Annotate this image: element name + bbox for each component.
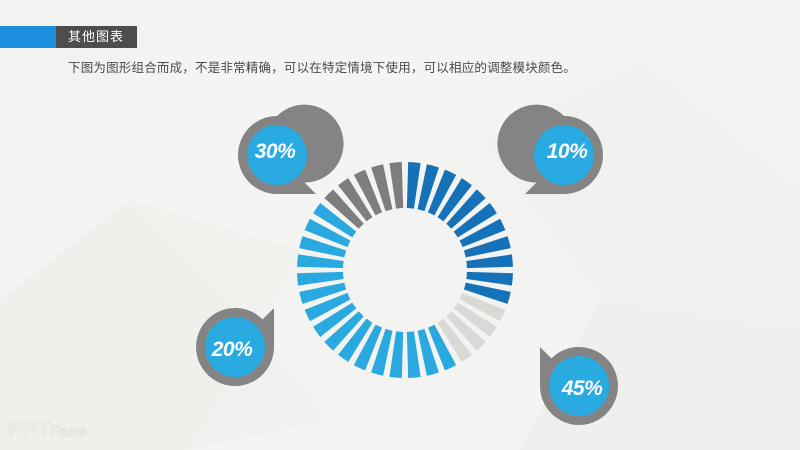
donut-segment xyxy=(407,331,421,378)
header-bar: 其他图表 xyxy=(0,26,137,48)
donut-segment xyxy=(466,272,513,286)
donut-segment xyxy=(466,254,513,268)
page-title: 其他图表 xyxy=(56,26,137,48)
watermark-pptfans: PPTFans xyxy=(8,418,87,442)
header-accent-block xyxy=(0,26,56,48)
pin-marker-30[interactable]: 30% xyxy=(236,114,318,196)
donut-segment xyxy=(407,162,421,209)
donut-segment xyxy=(389,162,403,209)
donut-segment xyxy=(297,272,344,286)
watermark-main: PPT xyxy=(8,418,50,441)
subtitle-text: 下图为图形组合而成，不是非常精确，可以在特定情境下使用，可以相应的调整模块颜色。 xyxy=(68,57,576,76)
pin-shape-bottom-left xyxy=(523,114,605,196)
pin-marker-10[interactable]: 10% xyxy=(523,114,605,196)
donut-svg xyxy=(290,155,520,385)
segmented-donut-chart xyxy=(290,155,520,385)
donut-segment xyxy=(297,254,344,268)
donut-segment xyxy=(389,331,403,378)
pin-shape-top-right xyxy=(194,306,276,388)
slide-canvas: 其他图表 下图为图形组合而成，不是非常精确，可以在特定情境下使用，可以相应的调整… xyxy=(0,0,800,450)
pin-shape-top-left xyxy=(538,345,620,427)
watermark-suffix: Fans xyxy=(50,423,87,440)
pin-marker-20[interactable]: 20% xyxy=(194,306,276,388)
pin-shape-bottom-right xyxy=(236,114,318,196)
pin-marker-45[interactable]: 45% xyxy=(538,345,620,427)
